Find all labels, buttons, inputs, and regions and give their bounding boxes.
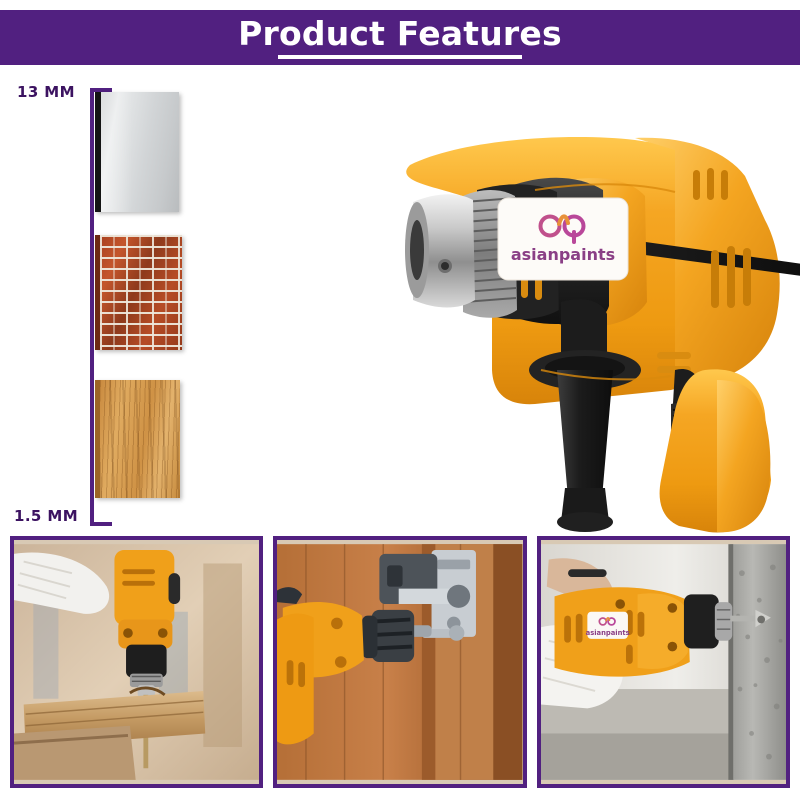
thumbnail-driving-hinge-screw[interactable]	[273, 536, 526, 788]
header-banner: Product Features	[0, 10, 800, 65]
capacity-label-metal: 13 MM	[17, 83, 75, 101]
hero-product-image: asianpaints	[205, 70, 800, 535]
page-title: Product Features	[238, 17, 562, 51]
thumbnail-drilling-concrete-wall[interactable]: asianpaints	[537, 536, 790, 788]
title-underline	[278, 55, 522, 59]
bracket-spine	[90, 88, 94, 526]
capacity-label-wood: 1.5 MM	[14, 507, 78, 525]
brand-label-plate: asianpaints	[498, 198, 628, 280]
header-banner-inner: Product Features	[238, 17, 562, 59]
svg-text:asianpaints: asianpaints	[585, 629, 629, 637]
thumbnail-drilling-wood-plank[interactable]	[10, 536, 263, 788]
product-features-page: Product Features 13 MM 1.5 MM	[0, 0, 800, 800]
material-sample-brick	[95, 235, 182, 350]
material-sample-metal	[95, 92, 179, 212]
material-sample-wood	[95, 380, 180, 498]
application-thumbnails: asianpaints	[10, 536, 790, 788]
bracket-arm-bottom	[90, 522, 112, 526]
capacity-measurement-column: 13 MM 1.5 MM	[0, 70, 210, 535]
svg-text:asianpaints: asianpaints	[511, 245, 615, 264]
